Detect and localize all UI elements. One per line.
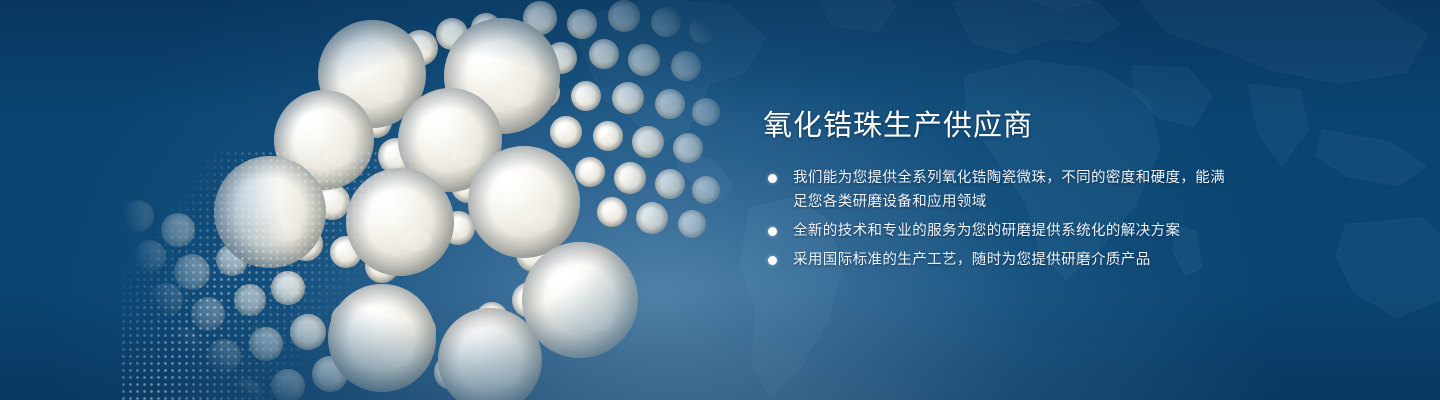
bullet-dot-icon: [768, 174, 777, 183]
list-item: 采用国际标准的生产工艺，随时为您提供研磨介质产品: [763, 248, 1233, 272]
banner-copy: 氧化锆珠生产供应商 我们能为您提供全系列氧化锆陶瓷微珠，不同的密度和硬度，能满足…: [763, 106, 1233, 277]
bullet-dot-icon: [768, 227, 777, 236]
zirconia-beads-photo: [120, 0, 720, 400]
list-item-text: 全新的技术和专业的服务为您的研磨提供系统化的解决方案: [793, 223, 1180, 239]
list-item: 我们能为您提供全系列氧化锆陶瓷微珠，不同的密度和硬度，能满足您各类研磨设备和应用…: [763, 166, 1233, 214]
feature-list: 我们能为您提供全系列氧化锆陶瓷微珠，不同的密度和硬度，能满足您各类研磨设备和应用…: [763, 166, 1233, 272]
list-item-text: 我们能为您提供全系列氧化锆陶瓷微珠，不同的密度和硬度，能满足您各类研磨设备和应用…: [793, 170, 1225, 210]
list-item: 全新的技术和专业的服务为您的研磨提供系统化的解决方案: [763, 219, 1233, 243]
bullet-dot-icon: [768, 256, 777, 265]
page-title: 氧化锆珠生产供应商: [763, 106, 1233, 146]
list-item-text: 采用国际标准的生产工艺，随时为您提供研磨介质产品: [793, 252, 1151, 268]
hero-banner: 氧化锆珠生产供应商 我们能为您提供全系列氧化锆陶瓷微珠，不同的密度和硬度，能满足…: [0, 0, 1440, 400]
